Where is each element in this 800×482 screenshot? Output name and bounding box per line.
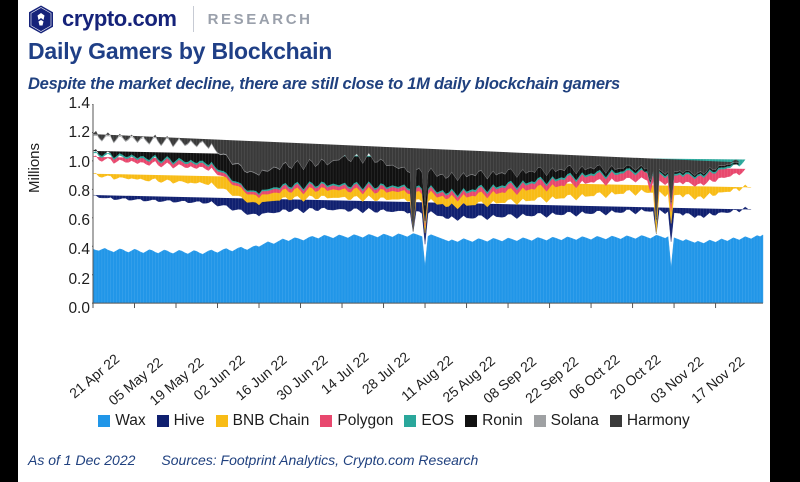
y-axis-tick-label: 1.2: [46, 124, 90, 142]
y-axis-tick-label: 1.4: [46, 95, 90, 113]
chart-card: crypto.com RESEARCH Daily Gamers by Bloc…: [18, 0, 770, 482]
brand-section-label: RESEARCH: [208, 11, 313, 28]
chart-legend: WaxHiveBNB ChainPolygonEOSRoninSolanaHar…: [18, 412, 770, 430]
legend-item-polygon[interactable]: Polygon: [320, 412, 393, 430]
legend-swatch-icon: [216, 415, 228, 427]
page-title: Daily Gamers by Blockchain: [28, 38, 332, 65]
legend-item-eos[interactable]: EOS: [404, 412, 454, 430]
y-axis-tick-label: 0.0: [46, 300, 90, 318]
brand-bar: crypto.com RESEARCH: [28, 4, 313, 34]
legend-item-harmony[interactable]: Harmony: [610, 412, 690, 430]
brand-name: crypto.com: [62, 8, 177, 30]
y-axis-tick-label: 0.6: [46, 212, 90, 230]
legend-item-ronin[interactable]: Ronin: [465, 412, 523, 430]
plot-area: [92, 104, 764, 309]
legend-label: EOS: [421, 412, 454, 430]
legend-swatch-icon: [320, 415, 332, 427]
x-axis-ticks: 21 Apr 2205 May 2219 May 2202 Jun 2216 J…: [92, 312, 764, 408]
legend-swatch-icon: [534, 415, 546, 427]
legend-label: Solana: [551, 412, 599, 430]
y-axis-label: Millions: [26, 108, 42, 228]
y-axis-tick-label: 0.8: [46, 183, 90, 201]
y-axis-tick-label: 1.0: [46, 154, 90, 172]
legend-label: Hive: [174, 412, 205, 430]
as-of-date: As of 1 Dec 2022: [28, 452, 135, 468]
legend-item-bnb-chain[interactable]: BNB Chain: [216, 412, 310, 430]
cryptocom-logo-icon: [28, 5, 54, 34]
legend-label: Ronin: [482, 412, 523, 430]
legend-swatch-icon: [157, 415, 169, 427]
legend-swatch-icon: [404, 415, 416, 427]
legend-item-solana[interactable]: Solana: [534, 412, 599, 430]
sources-text: Sources: Footprint Analytics, Crypto.com…: [161, 452, 478, 468]
legend-swatch-icon: [98, 415, 110, 427]
legend-label: BNB Chain: [233, 412, 310, 430]
legend-swatch-icon: [465, 415, 477, 427]
brand-divider: [193, 6, 194, 32]
legend-label: Polygon: [337, 412, 393, 430]
chart-footer: As of 1 Dec 2022 Sources: Footprint Anal…: [28, 452, 478, 468]
legend-swatch-icon: [610, 415, 622, 427]
legend-item-hive[interactable]: Hive: [157, 412, 205, 430]
y-axis-tick-label: 0.4: [46, 241, 90, 259]
legend-item-wax[interactable]: Wax: [98, 412, 145, 430]
y-axis-tick-label: 0.2: [46, 271, 90, 289]
legend-label: Harmony: [627, 412, 690, 430]
page-subtitle: Despite the market decline, there are st…: [28, 75, 620, 94]
y-axis-ticks: 0.00.20.40.60.81.01.21.4: [42, 104, 90, 309]
legend-label: Wax: [115, 412, 145, 430]
